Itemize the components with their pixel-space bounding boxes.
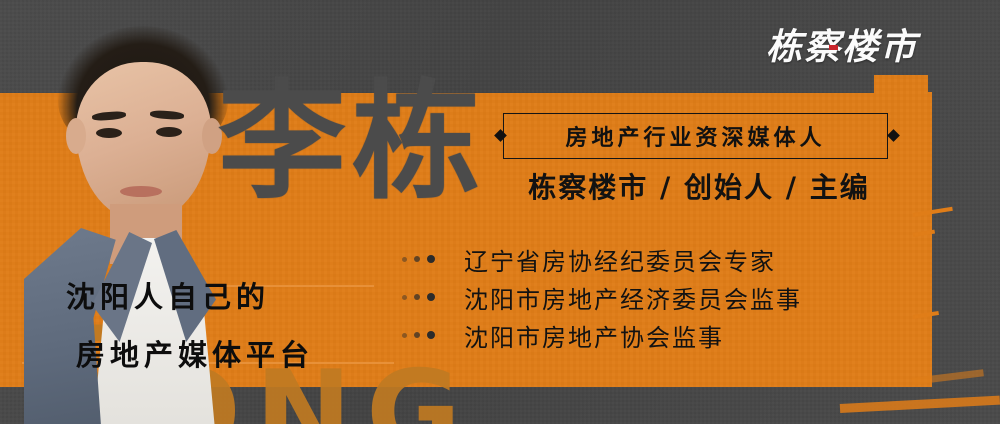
list-item: 辽宁省房协经纪委员会专家	[402, 240, 902, 278]
bullet-dots-icon	[402, 331, 464, 339]
list-item: 沈阳市房地产协会监事	[402, 316, 902, 354]
credential-text: 沈阳市房地产协会监事	[464, 318, 724, 353]
portrait-mouth	[120, 186, 162, 197]
list-item: 沈阳市房地产经济委员会监事	[402, 278, 902, 316]
bullet-dots-icon	[402, 293, 464, 301]
person-name: 李栋	[218, 78, 486, 206]
credentials-list: 辽宁省房协经纪委员会专家 沈阳市房地产经济委员会监事 沈阳市房地产协会监事	[402, 240, 902, 354]
portrait-eye-left	[96, 128, 122, 138]
title-badge-text: 房地产行业资深媒体人	[503, 113, 888, 159]
banner-root: LIDONG 李栋 房地产行业资深媒体人 栋察楼市 / 创始人 / 主编 辽宁省…	[0, 0, 1000, 424]
slogan-line-2: 房地产媒体平台	[76, 326, 396, 384]
role-line: 栋察楼市 / 创始人 / 主编	[503, 166, 895, 206]
brand-logo-accent-icon	[829, 45, 838, 50]
slogan-line-1: 沈阳人自己的	[66, 268, 396, 326]
portrait-ear-left	[66, 118, 86, 154]
credential-text: 辽宁省房协经纪委员会专家	[464, 242, 776, 277]
bullet-dots-icon	[402, 255, 464, 263]
portrait-nose	[130, 140, 148, 176]
portrait-eye-right	[156, 127, 182, 137]
credential-text: 沈阳市房地产经济委员会监事	[464, 280, 802, 315]
slogan-block: 沈阳人自己的 房地产媒体平台	[66, 268, 396, 384]
brand-logo: 栋察楼市	[766, 18, 918, 70]
